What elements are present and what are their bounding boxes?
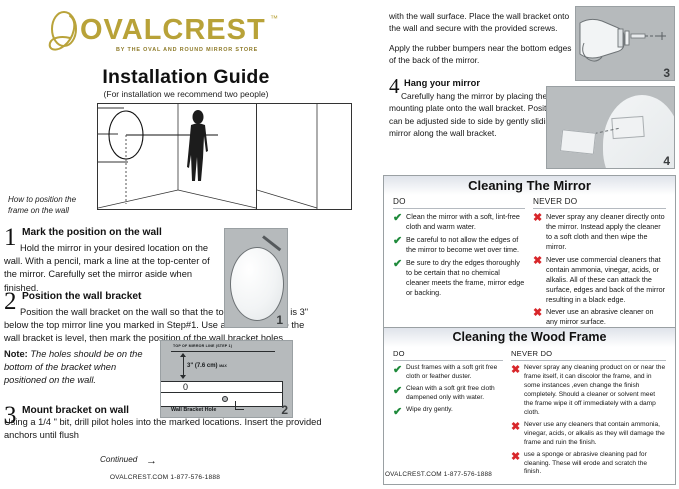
list-item: ✖ Never use commercial cleaners that con… bbox=[533, 255, 666, 305]
wall-bracket-plate bbox=[560, 129, 596, 154]
frame-do-item-2: Clean with a soft grit free cloth dampen… bbox=[406, 385, 503, 403]
installation-guide-page: OVALCREST ™ BY THE OVAL AND ROUND MIRROR… bbox=[0, 0, 679, 489]
right-paragraph-1: with the wall surface. Place the wall br… bbox=[389, 10, 575, 35]
frame-do-item-1: Dust frames with a soft grit free cloth … bbox=[406, 364, 503, 382]
list-item: ✔ Dust frames with a soft grit free clot… bbox=[393, 364, 503, 382]
step-3-body: Using a 1/4 " bit, drill pilot holes int… bbox=[4, 416, 344, 442]
list-item: ✔ Wipe dry gently. bbox=[393, 406, 503, 418]
list-item: ✖ Never spray any cleaner directly onto … bbox=[533, 212, 666, 252]
panel-cleaning-mirror: Cleaning The Mirror DO ✔ Clean the mirro… bbox=[383, 175, 676, 335]
room-diagram-svg bbox=[98, 104, 256, 209]
check-icon: ✔ bbox=[393, 406, 406, 418]
trademark-symbol: ™ bbox=[270, 14, 278, 23]
figure-3-number: 3 bbox=[663, 66, 670, 80]
step-1-body: Hold the mirror in your desired location… bbox=[4, 242, 222, 295]
figure-2-dimension-value: 3" (7.6 cm) bbox=[187, 363, 218, 369]
frame-never-item-1: Never spray any cleaning product on or n… bbox=[524, 364, 666, 418]
mirror-do-item-1: Clean the mirror with a soft, lint-free … bbox=[406, 212, 525, 232]
figure-4-number: 4 bbox=[663, 154, 670, 168]
list-item: ✔ Be careful to not allow the edges of t… bbox=[393, 235, 525, 255]
list-item: ✔ Clean the mirror with a soft, lint-fre… bbox=[393, 212, 525, 232]
footer-right: OVALCREST.COM 1-877-576-1888 bbox=[385, 471, 492, 478]
page-title: Installation Guide bbox=[0, 66, 372, 89]
brand-logo: OVALCREST ™ BY THE OVAL AND ROUND MIRROR… bbox=[38, 6, 288, 58]
mirror-never-header: NEVER DO bbox=[533, 197, 666, 209]
mirror-never-column: NEVER DO ✖ Never spray any cleaner direc… bbox=[529, 197, 670, 330]
panel-cleaning-wood-frame: Cleaning the Wood Frame DO ✔ Dust frames… bbox=[383, 327, 676, 485]
room-diagram-right-svg bbox=[257, 104, 350, 209]
figure-2-number: 2 bbox=[281, 403, 288, 417]
figure-1-oval-mirror: 1 bbox=[224, 228, 288, 328]
check-icon: ✔ bbox=[393, 212, 406, 224]
drill-illustration bbox=[576, 7, 674, 80]
mirror-do-column: DO ✔ Clean the mirror with a soft, lint-… bbox=[389, 197, 529, 330]
brand-tagline: BY THE OVAL AND ROUND MIRROR STORE bbox=[116, 47, 258, 53]
figure-2-bracket-diagram: TOP OF MIRROR LINE (STEP 1) 3" (7.6 cm) … bbox=[160, 340, 293, 418]
check-icon: ✔ bbox=[393, 385, 406, 397]
check-icon: ✔ bbox=[393, 258, 406, 270]
figure-4-hang-mirror-photo: 4 bbox=[546, 86, 675, 169]
list-item: ✖ Never use an abrasive cleaner on any m… bbox=[533, 307, 666, 327]
step-4-heading: Hang your mirror bbox=[404, 78, 480, 88]
page-subtitle: (For installation we recommend two peopl… bbox=[0, 89, 372, 99]
step-3-heading: Mount bracket on wall bbox=[22, 405, 129, 416]
mirror-never-item-2: Never use commercial cleaners that conta… bbox=[546, 255, 666, 305]
frame-do-header: DO bbox=[393, 349, 503, 361]
cross-icon: ✖ bbox=[533, 307, 546, 319]
list-item: ✔ Be sure to dry the edges thoroughly to… bbox=[393, 258, 525, 298]
right-column: with the wall surface. Place the wall br… bbox=[380, 0, 679, 489]
mirror-never-item-1: Never spray any cleaner directly onto th… bbox=[546, 212, 666, 252]
oval-mirror-shape bbox=[230, 247, 284, 321]
left-column: OVALCREST ™ BY THE OVAL AND ROUND MIRROR… bbox=[0, 0, 372, 489]
figure-2-bracket-hole bbox=[222, 396, 228, 402]
list-item: ✔ Clean with a soft grit free cloth damp… bbox=[393, 385, 503, 403]
mirror-do-header: DO bbox=[393, 197, 525, 209]
panel-cleaning-mirror-columns: DO ✔ Clean the mirror with a soft, lint-… bbox=[384, 195, 675, 334]
mirror-do-item-2: Be careful to not allow the edges of the… bbox=[406, 235, 525, 255]
figure-1-number: 1 bbox=[276, 313, 283, 327]
figure-2-top-line bbox=[171, 351, 275, 352]
figure-3-drill-photo: 3 bbox=[575, 6, 675, 81]
room-position-diagram bbox=[97, 103, 257, 210]
room-diagram-right-panel bbox=[257, 103, 352, 210]
continued-arrow-icon: → bbox=[146, 455, 157, 467]
frame-do-column: DO ✔ Dust frames with a soft grit free c… bbox=[389, 349, 507, 480]
frame-never-column: NEVER DO ✖ Never spray any cleaning prod… bbox=[507, 349, 670, 480]
panel-wood-frame-columns: DO ✔ Dust frames with a soft grit free c… bbox=[384, 347, 675, 484]
step-1-heading: Mark the position on the wall bbox=[22, 227, 162, 238]
footer-left: OVALCREST.COM 1-877-576-1888 bbox=[0, 474, 330, 481]
figure-2-dimension-label: 3" (7.6 cm) MAX bbox=[187, 363, 227, 369]
frame-never-item-2: Never use any cleaners that contain ammo… bbox=[524, 421, 666, 448]
frame-never-item-3: use a sponge or abrasive cleaning pad fo… bbox=[524, 451, 666, 478]
figure-2-arrow-down bbox=[180, 375, 186, 379]
figure-2-dimension-suffix: MAX bbox=[219, 364, 227, 368]
person-silhouette bbox=[187, 110, 208, 181]
cross-icon: ✖ bbox=[533, 212, 546, 224]
frame-do-item-3: Wipe dry gently. bbox=[406, 406, 453, 415]
check-icon: ✔ bbox=[393, 235, 406, 247]
figure-2-leader-line bbox=[235, 401, 244, 410]
continued-label: Continued bbox=[100, 455, 137, 464]
step-2-note: Note: The holes should be on the bottom … bbox=[4, 348, 154, 388]
cross-icon: ✖ bbox=[533, 255, 546, 267]
step-2-heading: Position the wall bracket bbox=[22, 291, 141, 302]
mirror-never-item-3: Never use an abrasive cleaner on any mir… bbox=[546, 307, 666, 327]
cross-icon: ✖ bbox=[511, 451, 524, 463]
list-item: ✖ Never spray any cleaning product on or… bbox=[511, 364, 666, 418]
frame-never-header: NEVER DO bbox=[511, 349, 666, 361]
check-icon: ✔ bbox=[393, 364, 406, 376]
cross-icon: ✖ bbox=[511, 421, 524, 433]
mirror-do-item-3: Be sure to dry the edges thoroughly to b… bbox=[406, 258, 525, 298]
panel-cleaning-mirror-title: Cleaning The Mirror bbox=[384, 176, 675, 195]
brand-wordmark: OVALCREST bbox=[80, 14, 266, 47]
step-2-note-label: Note: bbox=[4, 349, 28, 359]
panel-wood-frame-title: Cleaning the Wood Frame bbox=[384, 328, 675, 347]
figure-2-hole-label: Wall Bracket Hole bbox=[171, 407, 216, 413]
cross-icon: ✖ bbox=[511, 364, 524, 376]
figure-2-top-label: TOP OF MIRROR LINE (STEP 1) bbox=[173, 344, 232, 348]
right-paragraph-2: Apply the rubber bumpers near the bottom… bbox=[389, 42, 575, 67]
list-item: ✖ use a sponge or abrasive cleaning pad … bbox=[511, 451, 666, 478]
figure-2-zero-label: 0 bbox=[183, 382, 188, 392]
room-diagram-caption: How to position the frame on the wall bbox=[8, 195, 94, 216]
list-item: ✖ Never use any cleaners that contain am… bbox=[511, 421, 666, 448]
